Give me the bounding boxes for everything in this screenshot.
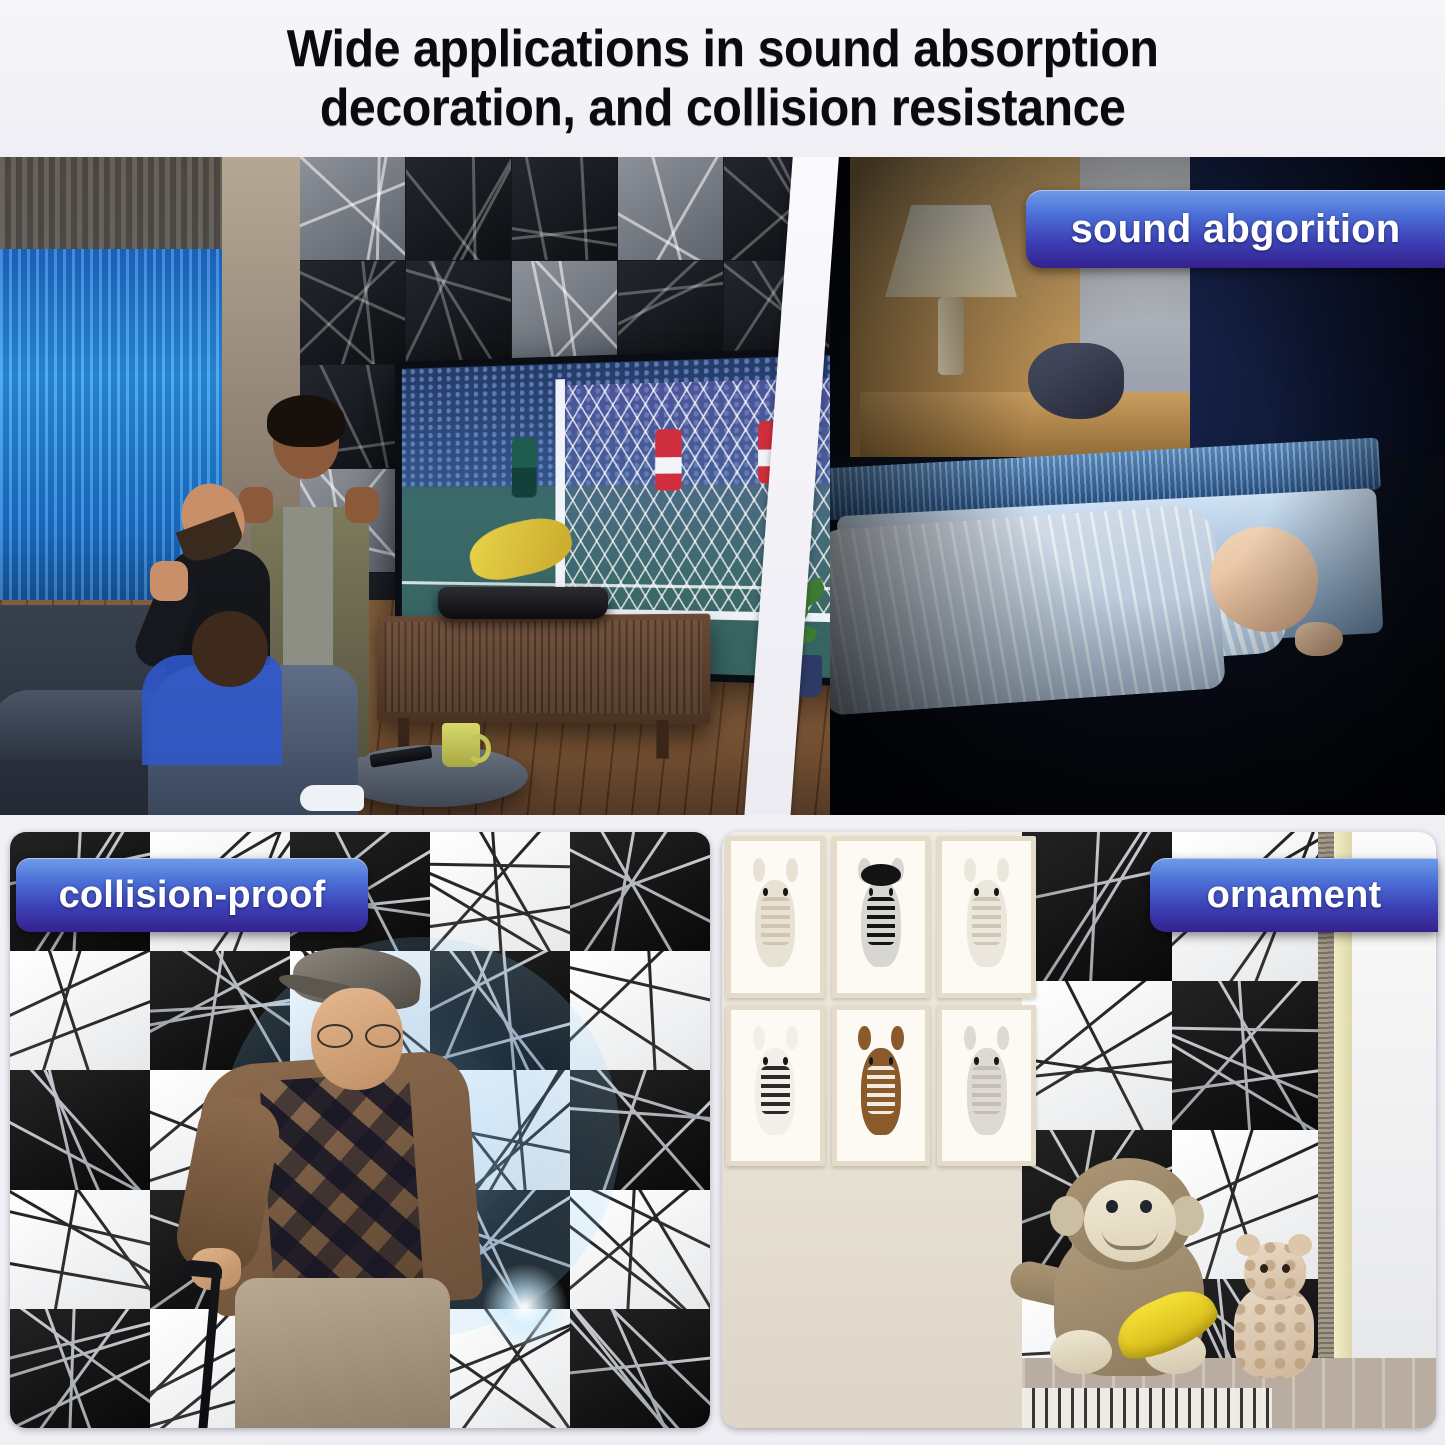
header-banner: Wide applications in sound absorption de…	[0, 0, 1445, 157]
striped-rug	[1022, 1388, 1272, 1428]
page-title: Wide applications in sound absorption de…	[249, 20, 1195, 138]
goal-post	[556, 379, 565, 618]
acoustic-tile	[10, 1190, 150, 1309]
sneaker	[300, 785, 364, 811]
animal-print-gallery	[722, 832, 1040, 1170]
badge-label: sound abgorition	[1071, 207, 1401, 252]
player-teal	[512, 437, 537, 497]
acoustic-tile	[430, 832, 570, 951]
animal-illustration-raccoon	[855, 862, 906, 971]
walking-cane	[198, 1268, 222, 1428]
person-on-sofa	[148, 605, 368, 815]
acoustic-tile	[618, 261, 723, 364]
acoustic-tile	[512, 261, 617, 364]
curtain-rail	[0, 157, 250, 249]
badge-ornament[interactable]: ornament	[1150, 858, 1438, 932]
framed-animal-print	[937, 836, 1036, 998]
media-console	[377, 614, 710, 725]
elderly-man	[195, 948, 495, 1428]
acoustic-tile	[512, 157, 617, 260]
framed-animal-print	[726, 836, 825, 998]
acoustic-tile	[1022, 981, 1172, 1130]
headline-line-2: decoration, and collision resistance	[287, 79, 1159, 138]
framed-animal-print	[726, 1005, 825, 1167]
framed-animal-print	[832, 836, 931, 998]
framed-animal-print	[937, 1005, 1036, 1167]
acoustic-tile	[618, 157, 723, 260]
acoustic-tile	[1172, 981, 1322, 1130]
acoustic-tile	[406, 261, 511, 364]
acoustic-tile	[300, 157, 405, 260]
console-leg-right	[656, 720, 668, 759]
animal-illustration-cat	[750, 1031, 801, 1140]
headline-line-1: Wide applications in sound absorption	[287, 20, 1159, 79]
badge-label: collision-proof	[59, 874, 326, 917]
animal-illustration-bear	[855, 1031, 906, 1140]
panel-home-theatre	[0, 157, 830, 815]
product-feature-image: Wide applications in sound absorption de…	[0, 0, 1445, 1445]
player-red-1	[655, 429, 681, 491]
animal-illustration-rabbit	[750, 862, 801, 971]
badge-sound-absorption[interactable]: sound abgorition	[1026, 190, 1445, 268]
acoustic-tile	[300, 261, 405, 364]
laser-projector	[438, 587, 608, 619]
acoustic-tile	[570, 832, 710, 951]
acoustic-tile	[10, 951, 150, 1070]
acoustic-tile	[10, 1070, 150, 1189]
animal-illustration-elephant	[961, 1031, 1012, 1140]
badge-collision-proof[interactable]: collision-proof	[16, 858, 368, 932]
plush-giraffe	[1218, 1228, 1330, 1378]
badge-label: ornament	[1207, 874, 1382, 917]
framed-animal-print	[832, 1005, 931, 1167]
acoustic-tile	[406, 157, 511, 260]
animal-illustration-owl	[961, 862, 1012, 971]
yellow-mug	[442, 723, 480, 767]
acoustic-tile	[10, 1309, 150, 1428]
acoustic-tile	[570, 1309, 710, 1428]
